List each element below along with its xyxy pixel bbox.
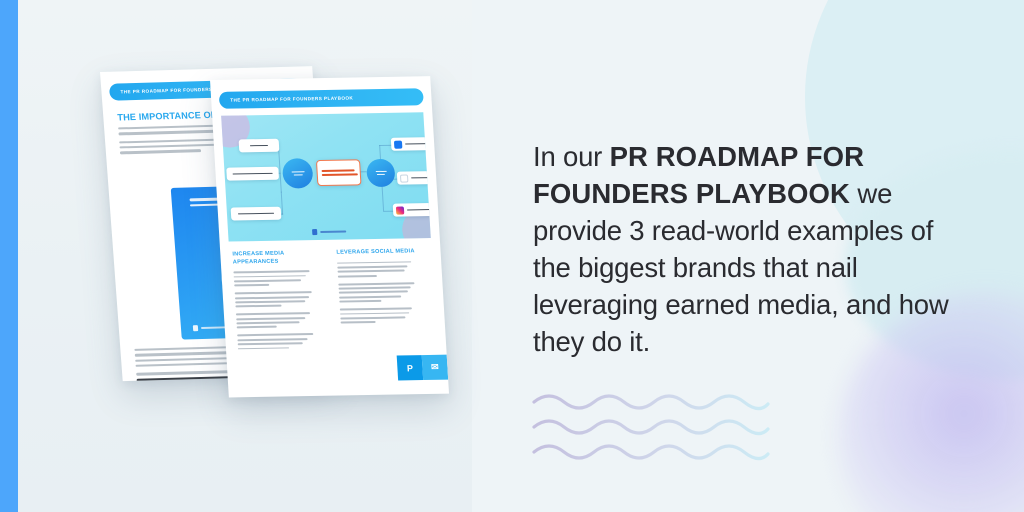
- text-line: [338, 275, 377, 278]
- text-line: [234, 275, 306, 278]
- text-line: [237, 333, 313, 336]
- mindmap-leaf-instagram: [393, 203, 431, 217]
- doc-front-column-left: INCREASE MEDIA APPEARANCES: [232, 250, 326, 356]
- text-line: [340, 312, 409, 315]
- text-line: [236, 321, 300, 324]
- copy-lead: In our: [533, 141, 610, 172]
- text-line: [339, 291, 408, 294]
- text-line: [339, 295, 401, 298]
- text-line: [340, 307, 412, 310]
- text-line: [234, 284, 269, 287]
- text-line: [235, 300, 306, 303]
- promo-banner: THE PR ROADMAP FOR FOUNDERS PLAYBOOK THE…: [0, 0, 1024, 512]
- text-line: [337, 265, 408, 268]
- text-line: [339, 300, 381, 303]
- text-line: [120, 150, 201, 155]
- text-paragraph: [237, 333, 326, 350]
- text-line: [237, 338, 308, 341]
- doc-front-column-title: LEVERAGE SOCIAL MEDIA: [336, 248, 425, 257]
- text-paragraph: [236, 312, 325, 329]
- facebook-icon: [394, 140, 402, 148]
- doc-front-ribbon: THE PR ROADMAP FOR FOUNDERS PLAYBOOK: [219, 88, 424, 109]
- doc-front-column-title: INCREASE MEDIA APPEARANCES: [232, 250, 321, 267]
- text-line: [337, 261, 411, 264]
- doc-tab-mail: ✉: [422, 355, 449, 380]
- text-line: [238, 347, 289, 350]
- mindmap-node-earned-media: [282, 158, 314, 188]
- promo-copy: In our PR ROADMAP FOR FOUNDERS PLAYBOOK …: [533, 138, 953, 360]
- text-line: [235, 291, 313, 294]
- text-line: [340, 316, 405, 319]
- doc-front-ribbon-text: THE PR ROADMAP FOR FOUNDERS PLAYBOOK: [230, 95, 353, 102]
- text-line: [236, 317, 305, 320]
- text-paragraph: [235, 291, 324, 308]
- text-paragraph: [233, 270, 322, 287]
- text-line: [338, 282, 414, 285]
- doc-front-tabs: P ✉: [397, 355, 449, 381]
- doc-tab-p: P: [397, 355, 424, 380]
- mindmap-node-owned-media: [366, 159, 396, 187]
- mindmap-center-node: [316, 159, 362, 186]
- doc-front-column-right: LEVERAGE SOCIAL MEDIA: [336, 248, 429, 330]
- text-line: [233, 270, 309, 273]
- text-paragraph: [338, 282, 427, 303]
- document-page-front: THE PR ROADMAP FOR FOUNDERS PLAYBOOK: [210, 76, 449, 397]
- text-paragraph: [340, 307, 429, 324]
- mindmap-leaf-speaking: [231, 207, 282, 221]
- text-line: [238, 342, 303, 345]
- twitter-icon: [400, 174, 408, 182]
- text-line: [339, 286, 411, 289]
- text-line: [236, 312, 310, 315]
- text-line: [235, 296, 309, 299]
- mindmap-leaf-press: [239, 139, 280, 153]
- mindmap-logo: [312, 229, 346, 236]
- mindmap-leaf-conferences: [226, 167, 279, 181]
- text-line: [341, 321, 376, 324]
- text-line: [235, 305, 281, 308]
- doc-back-callout-logo: [193, 324, 227, 331]
- instagram-icon: [396, 206, 404, 214]
- text-line: [234, 279, 301, 282]
- text-line: [338, 270, 405, 273]
- text-line: [119, 130, 222, 135]
- text-line: [237, 326, 278, 329]
- mindmap-leaf-twitter: [397, 171, 431, 185]
- text-paragraph: [337, 261, 426, 278]
- wavy-lines-decoration: [530, 388, 770, 468]
- left-accent-bar: [0, 0, 18, 512]
- mindmap-diagram: [221, 112, 431, 241]
- mindmap-leaf-facebook: [391, 137, 431, 151]
